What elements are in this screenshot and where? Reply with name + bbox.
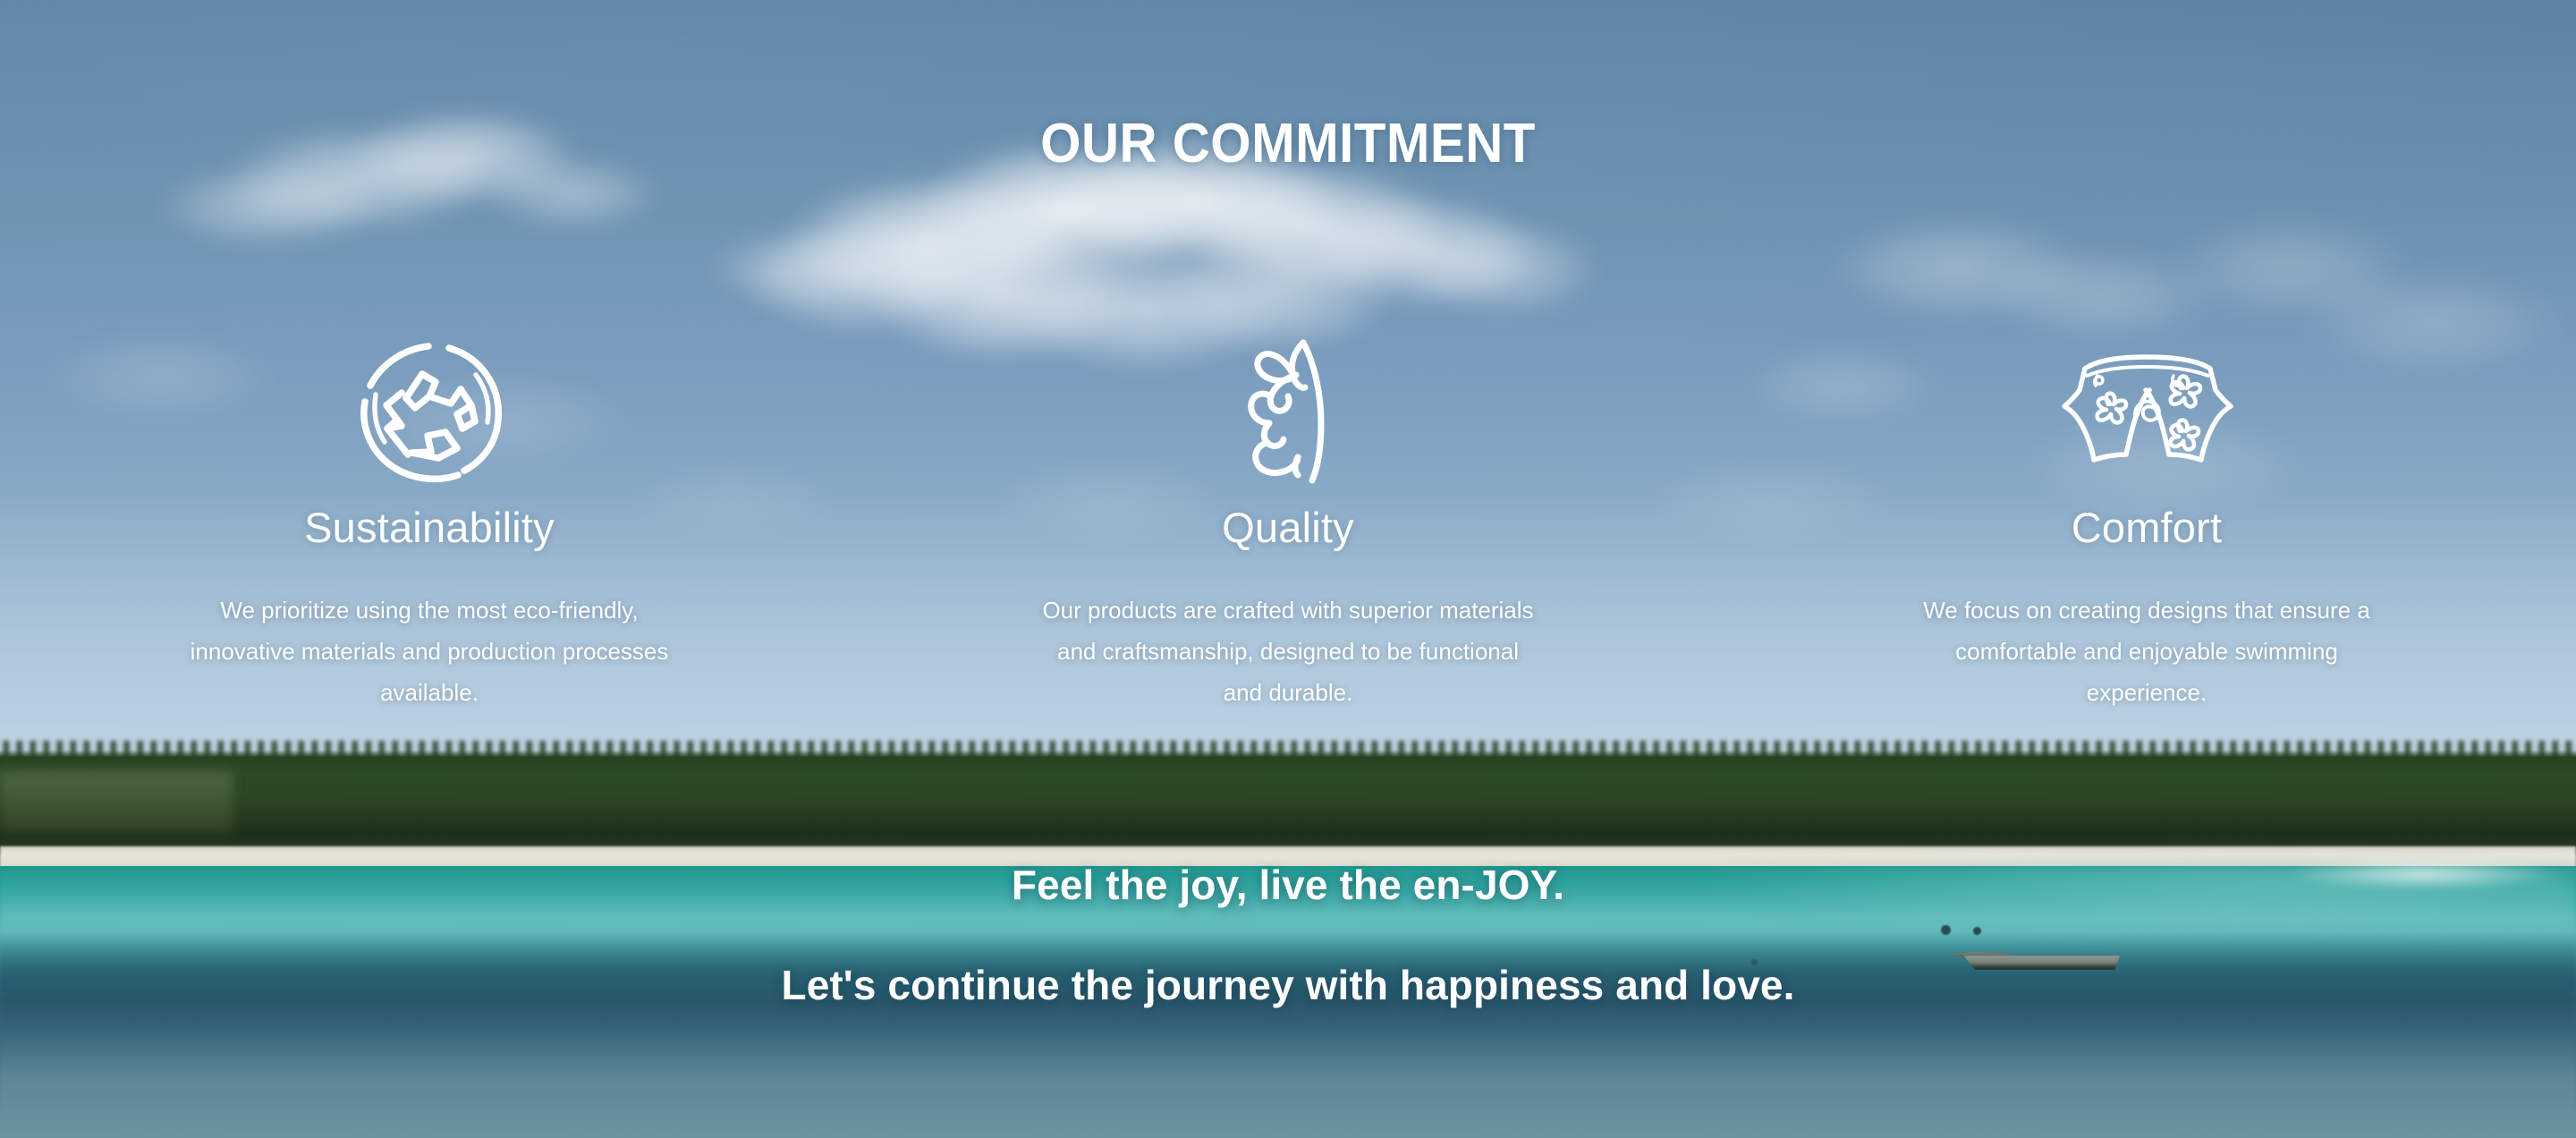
pillar-description: We focus on creating designs that ensure… [1896, 590, 2397, 713]
pillar-sustainability: Sustainability We prioritize using the m… [0, 331, 859, 713]
pillar-description: We prioritize using the most eco-friendl… [179, 590, 680, 713]
pillar-comfort: Comfort We focus on creating designs tha… [1717, 331, 2576, 713]
commitment-section: OUR COMMITMENT [0, 0, 2576, 1138]
pillar-title: Comfort [2072, 503, 2223, 552]
recycle-icon [344, 331, 514, 492]
page-title: OUR COMMITMENT [77, 112, 2498, 175]
pillar-title: Quality [1222, 503, 1354, 552]
tagline-secondary: Let's continue the journey with happines… [0, 961, 2576, 1009]
swim-shorts-icon [2062, 331, 2232, 492]
pillar-quality: Quality Our products are crafted with su… [859, 331, 1717, 713]
pillar-list: Sustainability We prioritize using the m… [0, 331, 2576, 713]
tagline-group: Feel the joy, live the en-JOY. Let's con… [0, 861, 2576, 1009]
pillar-title: Sustainability [304, 503, 555, 552]
leaf-icon [1203, 331, 1373, 492]
tagline-primary: Feel the joy, live the en-JOY. [0, 861, 2576, 909]
pillar-description: Our products are crafted with superior m… [1038, 590, 1538, 713]
content-overlay: OUR COMMITMENT [0, 0, 2576, 1138]
